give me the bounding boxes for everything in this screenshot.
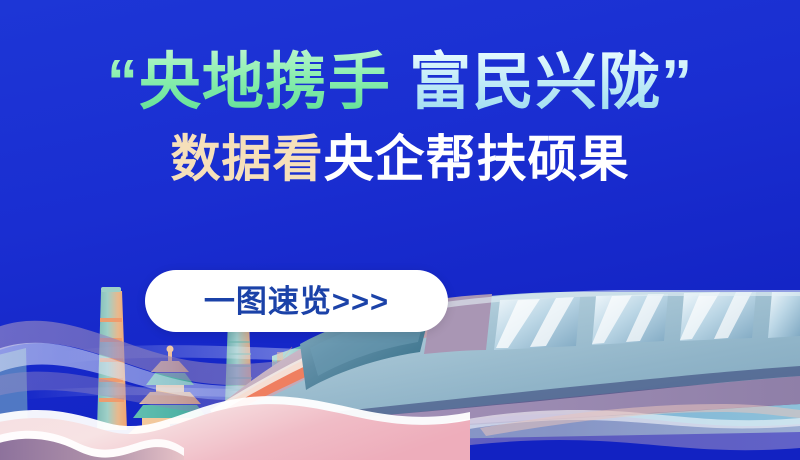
canton-tower-landmark [97, 287, 127, 430]
train-side-windows [494, 292, 800, 350]
view-infographic-button[interactable]: 一图速览>>> [145, 270, 448, 332]
sub-title-rest: 央企帮扶硕果 [324, 131, 630, 187]
sub-title-highlight: 数据看 [171, 131, 324, 187]
sub-title: 数据看央企帮扶硕果 [0, 134, 800, 184]
view-infographic-button-label: 一图速览>>> [204, 286, 389, 317]
pink-cloud-bank [0, 396, 470, 460]
main-title-close-quote: ” [661, 48, 693, 117]
main-title-open-quote: “ [107, 48, 139, 117]
lavender-wave-ribbons [0, 321, 410, 414]
left-building-slab [0, 348, 28, 432]
platform-band [380, 392, 800, 440]
taipei-101-landmark [464, 331, 504, 438]
headline-block: “央地携手 富民兴陇” 数据看央企帮扶硕果 [0, 52, 800, 184]
oriental-pearl-tower-landmark [364, 324, 394, 436]
cctv-headquarters-landmark [272, 344, 346, 438]
main-title-segment-a: 央地携手 [139, 48, 391, 117]
rail-bed [170, 372, 800, 444]
shanghai-world-financial-center-landmark [522, 306, 558, 436]
promo-banner: “央地携手 富民兴陇” 数据看央企帮扶硕果 一图速览>>> [0, 0, 800, 460]
temple-of-heaven-landmark [126, 346, 214, 437]
mist-streaks [20, 334, 800, 400]
main-title-segment-b: 富民兴陇 [409, 48, 661, 117]
foreground-wave-ribbons [330, 404, 800, 460]
main-title: “央地携手 富民兴陇” [0, 52, 800, 114]
